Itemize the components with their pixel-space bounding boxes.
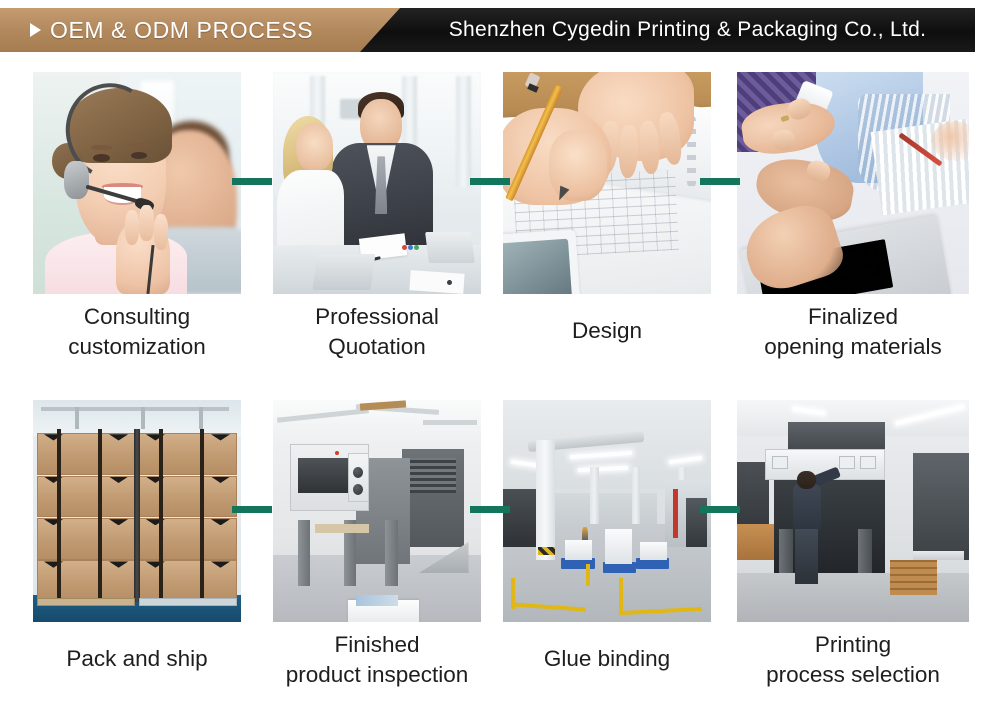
factory-floor-blue-pallets-photo <box>503 400 711 622</box>
section-title-tab-inner: OEM & ODM PROCESS <box>30 8 313 52</box>
process-step: Design <box>492 62 722 384</box>
hands-drawing-blueprint-pencil-photo <box>503 72 711 294</box>
step-caption-line: Glue binding <box>544 644 670 674</box>
process-row-1: Consulting customization <box>0 62 1005 384</box>
step-caption-line: Pack and ship <box>66 644 207 674</box>
step-caption-line: Quotation <box>328 332 426 362</box>
step-connector <box>700 178 740 185</box>
process-step: Glue binding <box>492 390 722 712</box>
step-caption-line: customization <box>68 332 206 362</box>
process-step: Finished product inspection <box>262 390 492 712</box>
hands-over-laptop-discussion-photo <box>737 72 969 294</box>
step-caption: Design <box>492 302 722 390</box>
stacked-cardboard-boxes-pallets-photo <box>33 400 241 622</box>
step-caption: Professional Quotation <box>262 302 492 376</box>
offset-printing-press-photo <box>273 400 481 622</box>
customer-service-agent-headset-photo <box>33 72 241 294</box>
process-step: Finalized opening materials <box>722 62 984 384</box>
worker-operating-press-photo <box>737 400 969 622</box>
step-connector <box>470 506 510 513</box>
step-caption-line: Design <box>572 316 642 346</box>
step-connector <box>232 506 272 513</box>
step-caption: Pack and ship <box>22 630 252 718</box>
step-connector <box>232 178 272 185</box>
business-meeting-quotation-photo <box>273 72 481 294</box>
process-step: Consulting customization <box>22 62 252 384</box>
step-caption-line: Finished <box>334 630 419 660</box>
step-caption-line: Professional <box>315 302 439 332</box>
step-caption: Finalized opening materials <box>722 302 984 376</box>
page-header: Shenzhen Cygedin Printing & Packaging Co… <box>0 0 1005 60</box>
process-step: Printing process selection <box>722 390 984 712</box>
step-caption: Consulting customization <box>22 302 252 376</box>
process-row-2: Pack and ship <box>0 390 1005 712</box>
step-caption-line: product inspection <box>286 660 469 690</box>
step-connector <box>700 506 740 513</box>
section-title-tab: OEM & ODM PROCESS <box>0 8 400 52</box>
step-caption: Printing process selection <box>722 630 984 704</box>
step-caption-line: Finalized <box>808 302 898 332</box>
step-caption-line: Consulting <box>84 302 190 332</box>
step-caption-line: opening materials <box>764 332 942 362</box>
process-step: Pack and ship <box>22 390 252 712</box>
step-connector <box>470 178 510 185</box>
step-caption: Glue binding <box>492 630 722 718</box>
step-caption-line: process selection <box>766 660 940 690</box>
section-title-label: OEM & ODM PROCESS <box>50 17 313 44</box>
step-caption: Finished product inspection <box>262 630 492 704</box>
process-step: Professional Quotation <box>262 62 492 384</box>
process-grid: Consulting customization <box>0 62 1005 713</box>
company-name: Shenzhen Cygedin Printing & Packaging Co… <box>400 8 975 52</box>
step-caption-line: Printing <box>815 630 891 660</box>
triangle-right-icon <box>30 23 41 37</box>
